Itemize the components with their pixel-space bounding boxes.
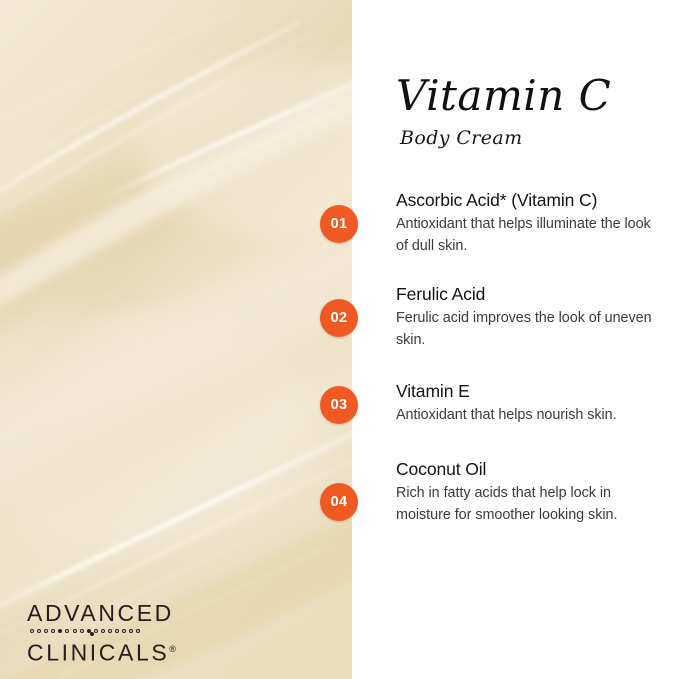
brand-logo: ADVANCED CLINICALS® [27,600,212,666]
brand-dot-ornament [30,627,212,635]
ingredient-text-02: Ferulic Acid Ferulic acid improves the l… [396,283,658,351]
ingredient-description: Antioxidant that helps nourish skin. [396,405,658,427]
step-badge-02: 02 [320,299,358,337]
ingredient-name: Coconut Oil [396,458,658,480]
ingredient-description: Rich in fatty acids that help lock in mo… [396,483,658,526]
ingredient-name: Ascorbic Acid* (Vitamin C) [396,189,658,211]
product-infographic: Vitamin C Body Cream *Ascorbic acid may … [0,0,679,679]
ingredient-text-01: Ascorbic Acid* (Vitamin C) Antioxidant t… [396,189,658,257]
step-badge-01: 01 [320,205,358,243]
ingredient-name: Vitamin E [396,380,658,402]
ingredient-text-03: Vitamin E Antioxidant that helps nourish… [396,380,658,427]
ingredient-description: Antioxidant that helps illuminate the lo… [396,214,658,257]
step-badge-04: 04 [320,483,358,521]
ingredient-text-04: Coconut Oil Rich in fatty acids that hel… [396,458,658,526]
step-badge-03: 03 [320,386,358,424]
ingredient-name: Ferulic Acid [396,283,658,305]
letter-i-dot [90,632,94,636]
brand-name-line-1: ADVANCED [27,600,212,626]
brand-name-text: CLINICALS [27,640,169,666]
ingredient-description: Ferulic acid improves the look of uneven… [396,308,658,351]
brand-name-line-2: CLINICALS® [27,636,212,666]
registered-trademark-icon: ® [169,644,176,654]
ingredient-list: 01 Ascorbic Acid* (Vitamin C) Antioxidan… [0,0,679,679]
